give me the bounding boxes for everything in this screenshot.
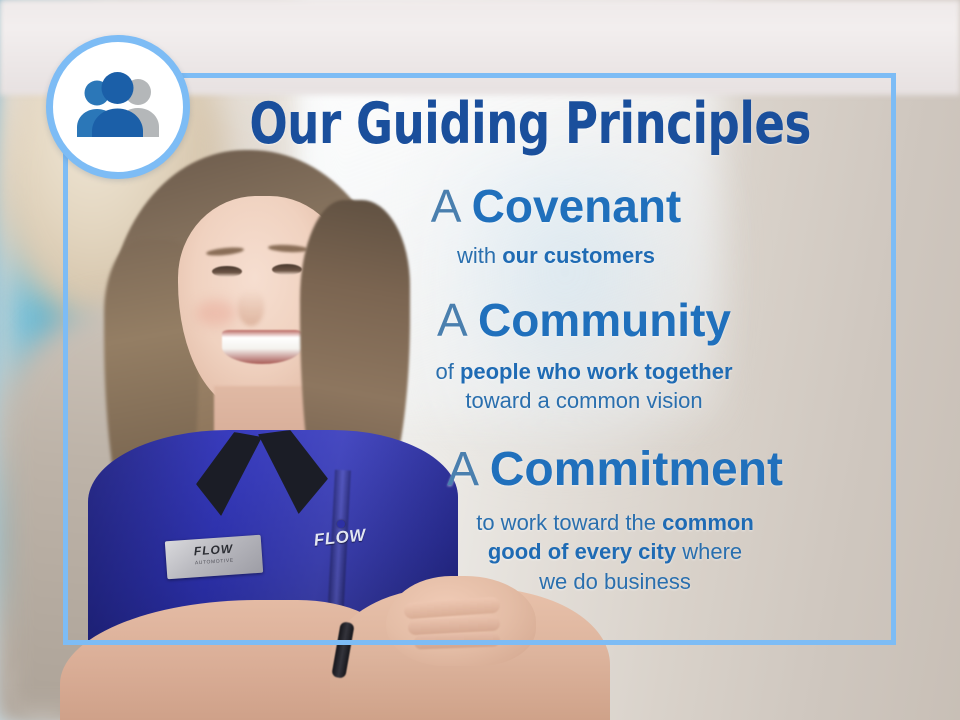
- principle-community-heading: A Community: [298, 296, 870, 345]
- principle-covenant-article: A: [431, 180, 459, 232]
- principle-commitment-heading: A Commitment: [360, 445, 870, 496]
- principle-covenant-subtitle: with our customers: [242, 241, 870, 270]
- associate-eye-left: [212, 266, 242, 277]
- principle-covenant-word: Covenant: [472, 180, 682, 232]
- associate-finger-3: [414, 633, 500, 650]
- principle-covenant-heading: A Covenant: [242, 182, 870, 231]
- associate-cheek: [196, 300, 236, 326]
- principle-commitment-word: Commitment: [490, 443, 783, 496]
- principle-commitment: A Commitment to work toward the commongo…: [360, 445, 870, 596]
- principle-community-article: A: [437, 294, 465, 346]
- principle-commitment-article: A: [447, 443, 476, 496]
- principle-community-word: Community: [478, 294, 731, 346]
- principles-list: A Covenant with our customers A Communit…: [250, 182, 870, 602]
- guiding-principles-graphic: FLOW AUTOMOTIVE FLOW Our Guiding Princip…: [0, 0, 960, 720]
- associate-name-badge: FLOW AUTOMOTIVE: [165, 535, 263, 580]
- page-title: Our Guiding Principles: [58, 96, 903, 153]
- principle-covenant: A Covenant with our customers: [242, 182, 870, 270]
- principle-community: A Community of people who work togethert…: [298, 296, 870, 415]
- principle-community-subtitle: of people who work togethertoward a comm…: [298, 357, 870, 416]
- principle-commitment-subtitle: to work toward the commongood of every c…: [360, 508, 870, 596]
